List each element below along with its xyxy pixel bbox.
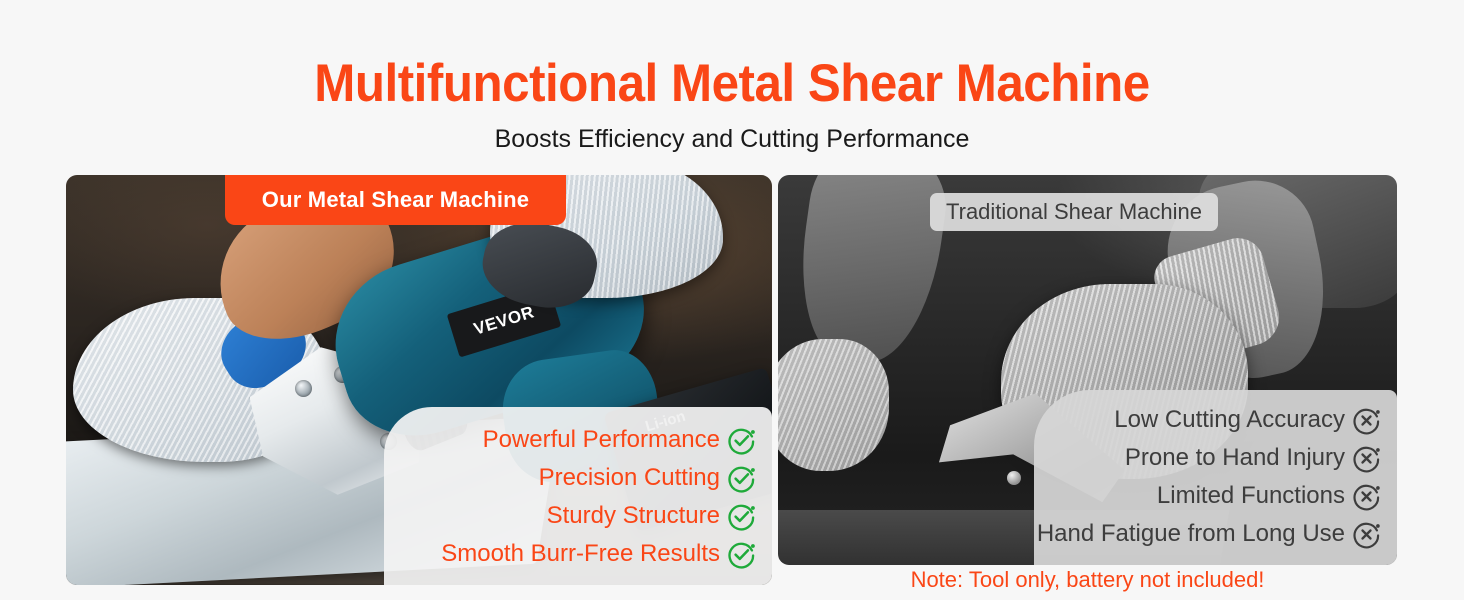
- traditional-product-panel: Traditional Shear Machine Low Cutting Ac…: [778, 175, 1397, 565]
- drawback-label: Low Cutting Accuracy: [1114, 408, 1345, 432]
- x-circle-icon: [1352, 520, 1381, 549]
- tool-brand-label: VEVOR: [471, 302, 536, 339]
- list-item: Low Cutting Accuracy: [1064, 401, 1381, 439]
- list-item: Precision Cutting: [414, 459, 756, 497]
- x-circle-icon: [1352, 482, 1381, 511]
- our-product-panel: VEVOR Li-ion Our Metal Shear Machine Pow…: [66, 175, 772, 585]
- traditional-product-badge: Traditional Shear Machine: [930, 193, 1218, 231]
- list-item: Smooth Burr-Free Results: [414, 535, 756, 573]
- drawback-label: Hand Fatigue from Long Use: [1037, 522, 1345, 546]
- drawback-label: Prone to Hand Injury: [1125, 446, 1345, 470]
- traditional-drawback-list: Low Cutting Accuracy Prone to Hand Injur…: [1034, 390, 1397, 565]
- list-item: Limited Functions: [1064, 477, 1381, 515]
- page-title: Multifunctional Metal Shear Machine: [51, 55, 1413, 113]
- check-circle-icon: [727, 426, 756, 455]
- traditional-product-badge-label: Traditional Shear Machine: [946, 199, 1202, 225]
- feature-label: Sturdy Structure: [547, 504, 720, 528]
- check-circle-icon: [727, 464, 756, 493]
- feature-label: Smooth Burr-Free Results: [441, 542, 720, 566]
- list-item: Hand Fatigue from Long Use: [1064, 515, 1381, 553]
- check-circle-icon: [727, 540, 756, 569]
- list-item: Prone to Hand Injury: [1064, 439, 1381, 477]
- work-glove-left: [778, 339, 889, 472]
- snips-pivot-bolt-icon: [1007, 471, 1021, 485]
- list-item: Powerful Performance: [414, 421, 756, 459]
- list-item: Sturdy Structure: [414, 497, 756, 535]
- product-comparison-banner: Multifunctional Metal Shear Machine Boos…: [0, 0, 1464, 600]
- our-product-badge-label: Our Metal Shear Machine: [262, 187, 529, 213]
- our-product-badge: Our Metal Shear Machine: [225, 175, 566, 225]
- feature-label: Precision Cutting: [539, 466, 720, 490]
- feature-label: Powerful Performance: [483, 428, 720, 452]
- x-circle-icon: [1352, 406, 1381, 435]
- our-product-feature-list: Powerful Performance Precision Cutting: [384, 407, 772, 585]
- x-circle-icon: [1352, 444, 1381, 473]
- check-circle-icon: [727, 502, 756, 531]
- disclaimer-note: Note: Tool only, battery not included!: [778, 568, 1397, 592]
- drawback-label: Limited Functions: [1157, 484, 1345, 508]
- banner-header: Multifunctional Metal Shear Machine Boos…: [0, 0, 1464, 175]
- page-subtitle: Boosts Efficiency and Cutting Performanc…: [0, 124, 1464, 154]
- comparison-panels: VEVOR Li-ion Our Metal Shear Machine Pow…: [0, 175, 1464, 600]
